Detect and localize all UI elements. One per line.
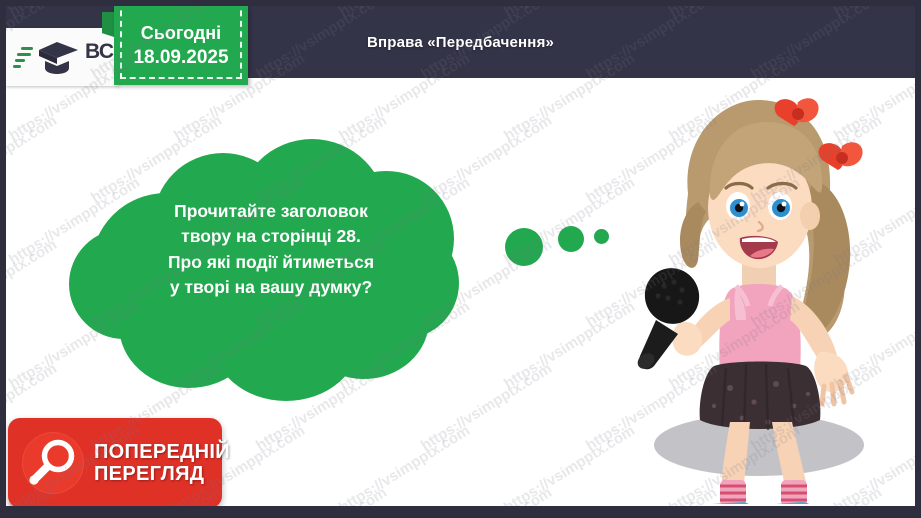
bubble-tail-dot-3	[594, 229, 609, 244]
watermark-text: https://vsimpptx.com	[913, 236, 915, 330]
badge-line-2: ПЕРЕГЛЯД	[94, 463, 230, 485]
brand-logo[interactable]: ВСІМ pptx	[6, 28, 119, 86]
watermark-text: https://vsimpptx.com	[336, 422, 473, 506]
watermark-text: https://vsimpptx.com	[253, 484, 390, 506]
speed-lines-icon	[13, 47, 33, 68]
bubble-line-1: Прочитайте заголовок	[109, 199, 433, 224]
preview-badge[interactable]: ПОПЕРЕДНІЙ ПЕРЕГЛЯД	[8, 418, 222, 506]
date-label: Сьогодні	[141, 23, 221, 44]
speech-bubble: Прочитайте заголовок твору на сторінці 2…	[61, 131, 481, 376]
presentation-slide: Вправа «Передбачення» ВСІМ pptx Сьогодні…	[6, 6, 915, 506]
watermark-text: https://vsimpptx.com	[913, 484, 915, 506]
graduation-cap-icon	[35, 37, 81, 77]
magnifier-icon	[22, 432, 84, 494]
bubble-line-2: твору на сторінці 28.	[109, 224, 433, 249]
badge-line-1: ПОПЕРЕДНІЙ	[94, 441, 230, 463]
badge-icon-circle	[22, 432, 84, 494]
watermark-text: https://vsimpptx.com	[6, 236, 60, 330]
bubble-tail-dot-1	[505, 228, 543, 266]
bubble-line-3: Про які події йтиметься	[109, 250, 433, 275]
date-value: 18.09.2025	[133, 47, 228, 69]
bubble-line-4: у творі на вашу думку?	[109, 275, 433, 300]
watermark-text: https://vsimpptx.com	[418, 484, 555, 506]
watermark-text: https://vsimpptx.com	[501, 422, 638, 506]
bubble-text: Прочитайте заголовок твору на сторінці 2…	[109, 199, 433, 301]
date-tag: Сьогодні 18.09.2025	[114, 6, 248, 85]
girl-with-microphone-illustration	[626, 84, 886, 504]
watermark-text: https://vsimpptx.com	[6, 112, 60, 206]
watermark-text: https://vsimpptx.com	[913, 360, 915, 454]
watermark-text: https://vsimpptx.com	[913, 112, 915, 206]
bubble-tail-dot-2	[558, 226, 584, 252]
watermark-text: https://vsimpptx.com	[501, 298, 638, 392]
